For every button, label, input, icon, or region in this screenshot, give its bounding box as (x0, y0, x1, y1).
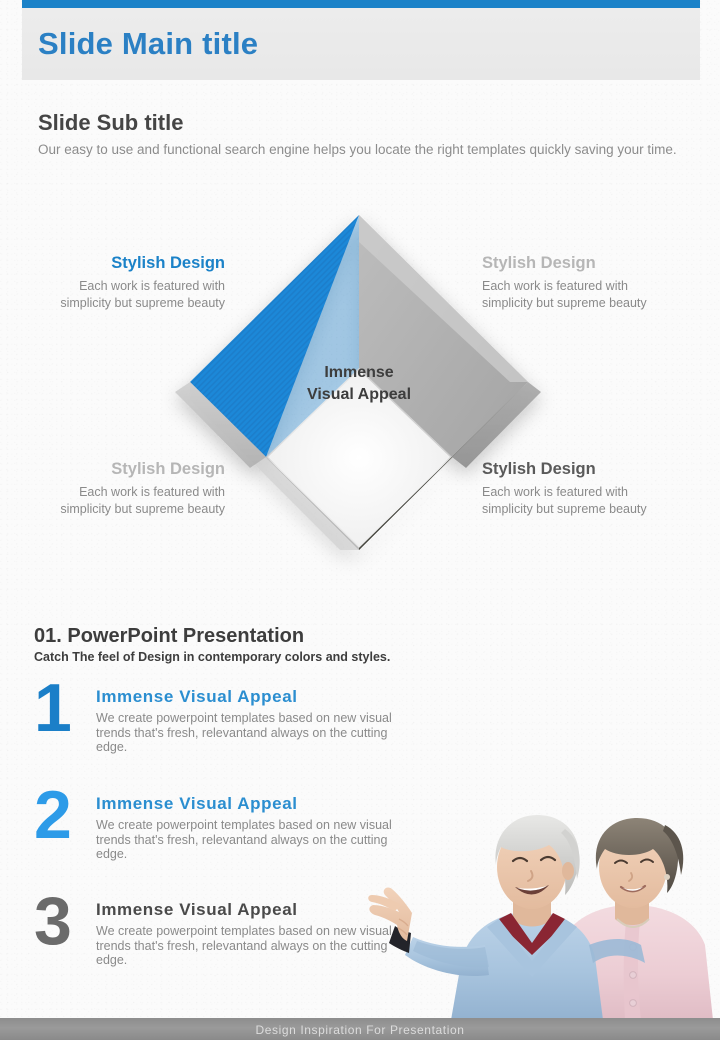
diagram-label-top-right: Stylish Design Each work is featured wit… (482, 252, 682, 311)
center-line-2: Visual Appeal (279, 384, 439, 406)
list-item-title: Immense Visual Appeal (96, 793, 404, 815)
label-title: Stylish Design (25, 458, 225, 480)
list-item-title: Immense Visual Appeal (96, 899, 404, 921)
list-item-body: We create powerpoint templates based on … (96, 711, 404, 755)
diagram-label-bottom-left: Stylish Design Each work is featured wit… (25, 458, 225, 517)
diagram-center-label: Immense Visual Appeal (279, 362, 439, 406)
page-title: Slide Main title (38, 26, 258, 62)
list-item: 2 Immense Visual Appeal We create powerp… (34, 793, 404, 862)
list-item-number: 1 (34, 674, 72, 742)
list-item-number: 3 (34, 887, 72, 955)
section-heading: 01. PowerPoint Presentation (34, 625, 304, 648)
header-accent-bar (22, 0, 700, 8)
list-item-number: 2 (34, 781, 72, 849)
label-title: Stylish Design (482, 252, 682, 274)
label-title: Stylish Design (482, 458, 682, 480)
diagram-label-top-left: Stylish Design Each work is featured wit… (25, 252, 225, 311)
label-body: Each work is featured with simplicity bu… (25, 278, 225, 311)
label-title: Stylish Design (25, 252, 225, 274)
label-body: Each work is featured with simplicity bu… (482, 484, 682, 517)
list-item-body: We create powerpoint templates based on … (96, 924, 404, 968)
center-line-1: Immense (279, 362, 439, 384)
list-item-body: We create powerpoint templates based on … (96, 818, 404, 862)
label-body: Each work is featured with simplicity bu… (482, 278, 682, 311)
elderly-couple-photo (365, 795, 720, 1020)
list-item: 3 Immense Visual Appeal We create powerp… (34, 899, 404, 968)
diagram-label-bottom-right: Stylish Design Each work is featured wit… (482, 458, 682, 517)
subtitle-description: Our easy to use and functional search en… (38, 140, 678, 160)
section-subheading: Catch The feel of Design in contemporary… (34, 650, 390, 664)
list-item-title: Immense Visual Appeal (96, 686, 404, 708)
label-body: Each work is featured with simplicity bu… (25, 484, 225, 517)
subtitle-heading: Slide Sub title (38, 110, 183, 136)
list-item: 1 Immense Visual Appeal We create powerp… (34, 686, 404, 755)
footer-label: Design Inspiration For Presentation (0, 1023, 720, 1037)
